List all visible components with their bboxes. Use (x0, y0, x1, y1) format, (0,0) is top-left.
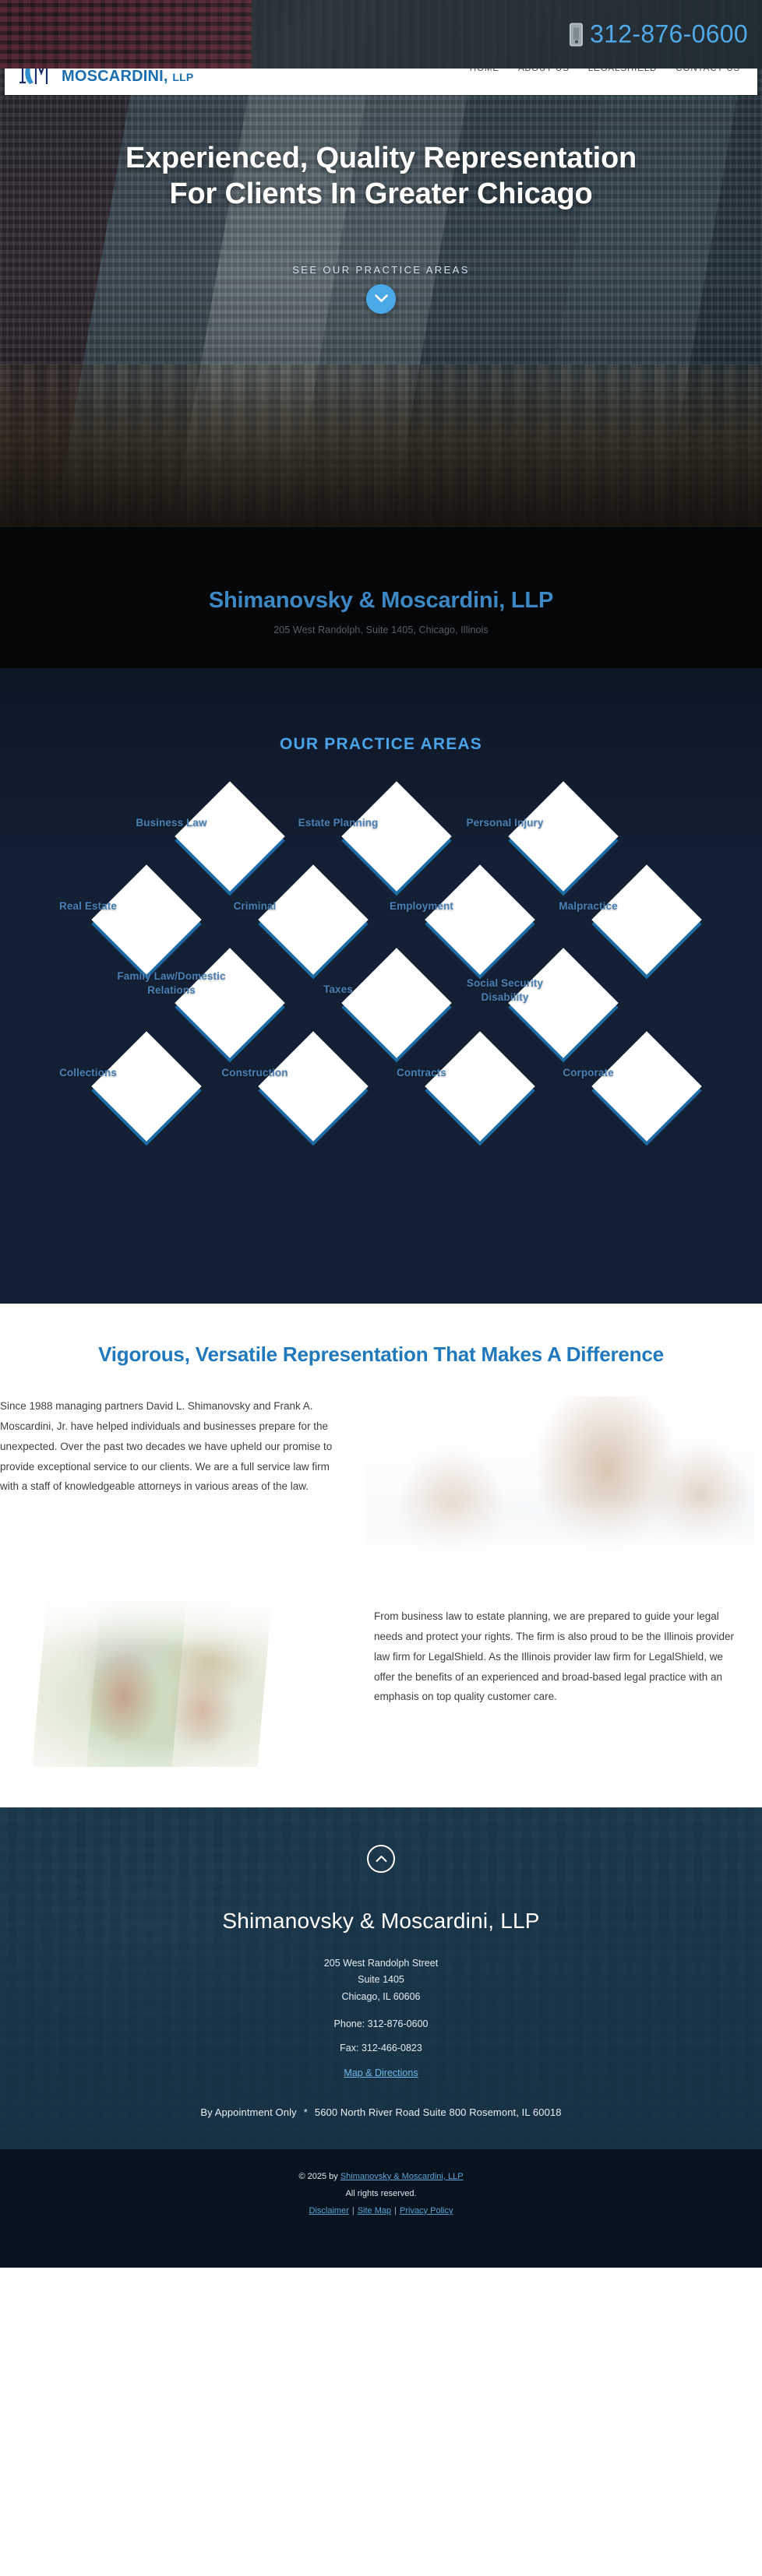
privacy-policy-link[interactable]: Privacy Policy (400, 2206, 453, 2215)
about-paragraph-2: From business law to estate planning, we… (374, 1606, 746, 1708)
office-meeting-photo (366, 1396, 754, 1577)
practice-diamond-real-estate[interactable] (91, 864, 201, 974)
chevron-down-icon (375, 294, 388, 303)
practice-diamond-business-law[interactable] (175, 781, 284, 891)
copyright-prefix: © 2025 by (298, 2172, 340, 2181)
practice-diamond-corporate[interactable] (591, 1031, 701, 1141)
map-and-directions-link[interactable]: Map & Directions (344, 2067, 418, 2078)
footer-map-wrap: Map & Directions (0, 2066, 762, 2080)
practice-areas-grid: Business Law Estate Planning Personal In… (0, 769, 762, 1252)
appointment-star: * (297, 2106, 315, 2118)
mobile-phone-icon (570, 23, 583, 46)
chevron-up-icon (376, 1855, 387, 1863)
copyright-bar: © 2025 by Shimanovsky & Moscardini, LLP … (0, 2149, 762, 2268)
practice-diamond-social-security[interactable] (508, 948, 618, 1057)
about-heading: Vigorous, Versatile Representation That … (0, 1341, 762, 1368)
practice-diamond-contracts[interactable] (425, 1031, 534, 1141)
scroll-down-button[interactable] (366, 284, 396, 314)
hero-section: Experienced, Quality Representation For … (0, 69, 762, 528)
phone-link[interactable]: 312-876-0600 (570, 20, 748, 49)
practice-areas-heading: OUR PRACTICE AREAS (0, 668, 762, 754)
link-separator-1: | (349, 2206, 358, 2215)
about-paragraph-1-wrap: Since 1988 managing partners David L. Sh… (0, 1396, 366, 1497)
practice-areas-section: OUR PRACTICE AREAS Business Law Estate P… (0, 668, 762, 1304)
site-map-link[interactable]: Site Map (358, 2206, 391, 2215)
rights-reserved: All rights reserved. (0, 2185, 762, 2202)
about-paragraph-2-wrap: From business law to estate planning, we… (374, 1600, 762, 1708)
office-meeting-photo-image (366, 1396, 754, 1577)
hero-cta[interactable]: SEE OUR PRACTICE AREAS (0, 264, 762, 314)
hero-title-line-1: Experienced, Quality Representation (125, 142, 637, 174)
practice-diamond-malpractice[interactable] (591, 864, 701, 974)
firm-address: 205 West Randolph, Suite 1405, Chicago, … (8, 625, 754, 635)
about-section: Vigorous, Versatile Representation That … (0, 1304, 762, 1807)
footer-fax: Fax: 312-466-0823 (0, 2043, 762, 2053)
footer-address: 205 West Randolph Street Suite 1405 Chic… (0, 1955, 762, 2006)
footer-address-line-2: Suite 1405 (0, 1972, 762, 1989)
footer-address-line-1: 205 West Randolph Street (0, 1955, 762, 1972)
senior-couple-photo-image (0, 1600, 374, 1767)
brand-line-2: MOSCARDINI, LLP (62, 69, 195, 84)
copyright-line: © 2025 by Shimanovsky & Moscardini, LLP (0, 2168, 762, 2185)
footer-address-line-3: Chicago, IL 60606 (0, 1989, 762, 2006)
link-separator-2: | (391, 2206, 400, 2215)
practice-diamond-collections[interactable] (91, 1031, 201, 1141)
hero-cta-label: SEE OUR PRACTICE AREAS (0, 264, 762, 276)
appointment-prefix: By Appointment Only (200, 2106, 296, 2118)
practice-diamond-family-law[interactable] (175, 948, 284, 1057)
footer-appointment-note: By Appointment Only*5600 North River Roa… (0, 2106, 762, 2118)
practice-diamond-estate-planning[interactable] (341, 781, 451, 891)
hero-title: Experienced, Quality Representation For … (0, 140, 762, 213)
practice-diamond-employment[interactable] (425, 864, 534, 974)
footer-phone[interactable]: Phone: 312-876-0600 (0, 2016, 762, 2033)
firm-name-strip: Shimanovsky & Moscardini, LLP 205 West R… (0, 527, 762, 668)
practice-diamond-construction[interactable] (258, 1031, 368, 1141)
hero-title-line-2: For Clients In Greater Chicago (170, 178, 593, 210)
about-paragraph-1: Since 1988 managing partners David L. Sh… (0, 1396, 349, 1497)
copyright-firm-link[interactable]: Shimanovsky & Moscardini, LLP (340, 2172, 464, 2181)
disclaimer-link[interactable]: Disclaimer (309, 2206, 349, 2215)
legal-links: Disclaimer|Site Map|Privacy Policy (0, 2202, 762, 2219)
top-contact-bar: 312-876-0600 (0, 0, 762, 69)
practice-diamond-taxes[interactable] (341, 948, 451, 1057)
senior-couple-photo (0, 1600, 374, 1767)
about-row-bottom: From business law to estate planning, we… (0, 1600, 762, 1807)
footer-firm-name: Shimanovsky & Moscardini, LLP (0, 1909, 762, 1934)
about-row-top: Since 1988 managing partners David L. Sh… (0, 1396, 762, 1577)
firm-name: Shimanovsky & Moscardini, LLP (8, 588, 754, 614)
back-to-top-button[interactable] (367, 1845, 395, 1873)
phone-number[interactable]: 312-876-0600 (590, 20, 748, 49)
site-footer: Shimanovsky & Moscardini, LLP 205 West R… (0, 1807, 762, 2149)
appointment-address: 5600 North River Road Suite 800 Rosemont… (315, 2106, 562, 2118)
practice-diamond-criminal[interactable] (258, 864, 368, 974)
practice-diamond-personal-injury[interactable] (508, 781, 618, 891)
